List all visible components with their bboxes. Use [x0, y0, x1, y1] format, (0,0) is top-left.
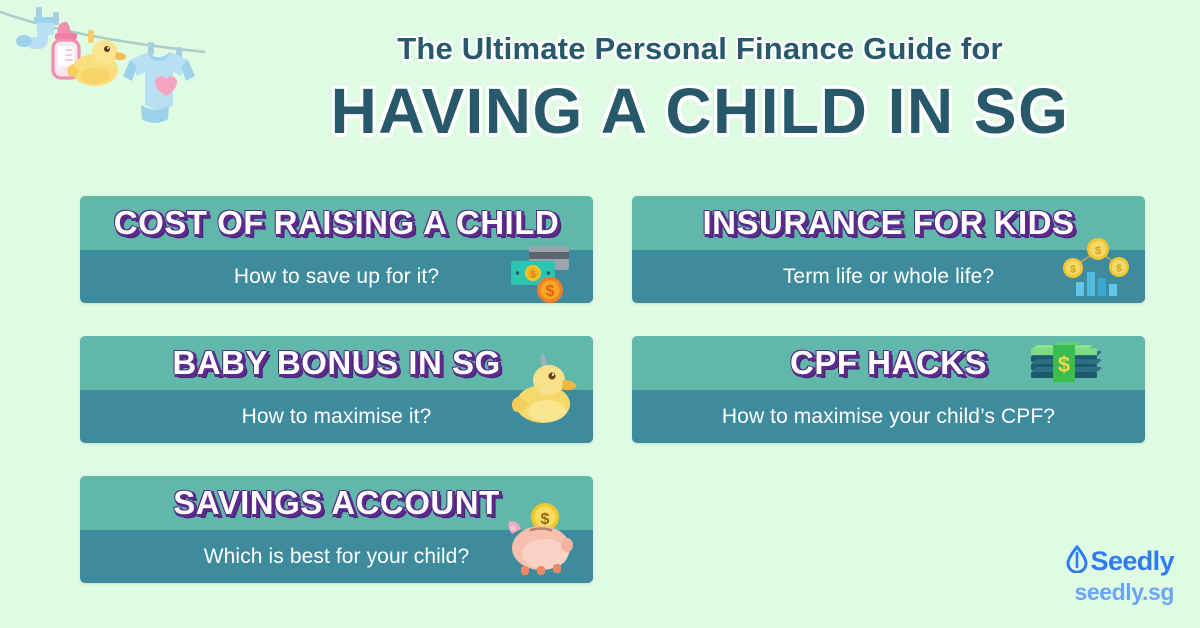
page-subtitle: The Ultimate Personal Finance Guide for: [200, 30, 1200, 69]
card-title: INSURANCE FOR KIDS: [702, 204, 1074, 242]
svg-text:$: $: [1116, 264, 1122, 275]
card-body: Term life or whole life? $: [632, 250, 1145, 303]
topic-card-insurance-for-kids[interactable]: INSURANCE FOR KIDS Term life or whole li…: [632, 196, 1145, 303]
card-title: CPF HACKS: [790, 344, 987, 382]
baby-sock-icon: [16, 17, 54, 49]
topic-card-baby-bonus-in-sg[interactable]: BABY BONUS IN SG How to maximise it?: [80, 336, 593, 443]
logo-brand-row: Seedly: [1065, 545, 1174, 577]
card-body: How to save up for it? $ $: [80, 250, 593, 303]
card-subtitle: Term life or whole life?: [783, 265, 994, 289]
svg-text:$: $: [546, 283, 555, 300]
page-title: The Ultimate Personal Finance Guide for …: [200, 30, 1200, 148]
card-header: CPF HACKS $: [632, 336, 1145, 390]
card-body: Which is best for your child? $: [80, 530, 593, 583]
baby-clothesline: [0, 0, 210, 150]
card-subtitle: Which is best for your child?: [204, 545, 470, 569]
money-card-icon: $ $: [509, 242, 575, 304]
card-title: COST OF RAISING A CHILD: [114, 204, 559, 242]
card-subtitle: How to save up for it?: [234, 265, 439, 289]
topic-card-cost-of-raising-a-child[interactable]: COST OF RAISING A CHILD How to save up f…: [80, 196, 593, 303]
card-title: BABY BONUS IN SG: [172, 344, 500, 382]
card-body: How to maximise it?: [80, 390, 593, 443]
seedly-logo[interactable]: Seedly seedly.sg: [1065, 545, 1174, 604]
page-main-title: HAVING A CHILD IN SG: [200, 75, 1200, 149]
card-header: BABY BONUS IN SG: [80, 336, 593, 390]
money-stack-icon: $: [1027, 342, 1101, 386]
card-subtitle: How to maximise your child’s CPF?: [722, 405, 1055, 429]
card-header: COST OF RAISING A CHILD: [80, 196, 593, 250]
baby-onesie-icon: [123, 52, 195, 123]
card-subtitle: How to maximise it?: [242, 405, 432, 429]
card-header: INSURANCE FOR KIDS: [632, 196, 1145, 250]
svg-text:$: $: [530, 270, 536, 281]
seedly-drop-icon: [1065, 545, 1089, 577]
topic-card-cpf-hacks[interactable]: CPF HACKS $: [632, 336, 1145, 443]
svg-text:$: $: [1058, 352, 1070, 377]
card-title: SAVINGS ACCOUNT: [173, 484, 500, 522]
card-body: How to maximise your child’s CPF?: [632, 390, 1145, 443]
svg-text:$: $: [1070, 265, 1076, 276]
topic-card-savings-account[interactable]: SAVINGS ACCOUNT Which is best for your c…: [80, 476, 593, 583]
infographic-canvas: The Ultimate Personal Finance Guide for …: [0, 0, 1200, 628]
logo-brand-text: Seedly: [1091, 548, 1174, 575]
logo-url-text: seedly.sg: [1065, 581, 1174, 604]
card-header: SAVINGS ACCOUNT: [80, 476, 593, 530]
